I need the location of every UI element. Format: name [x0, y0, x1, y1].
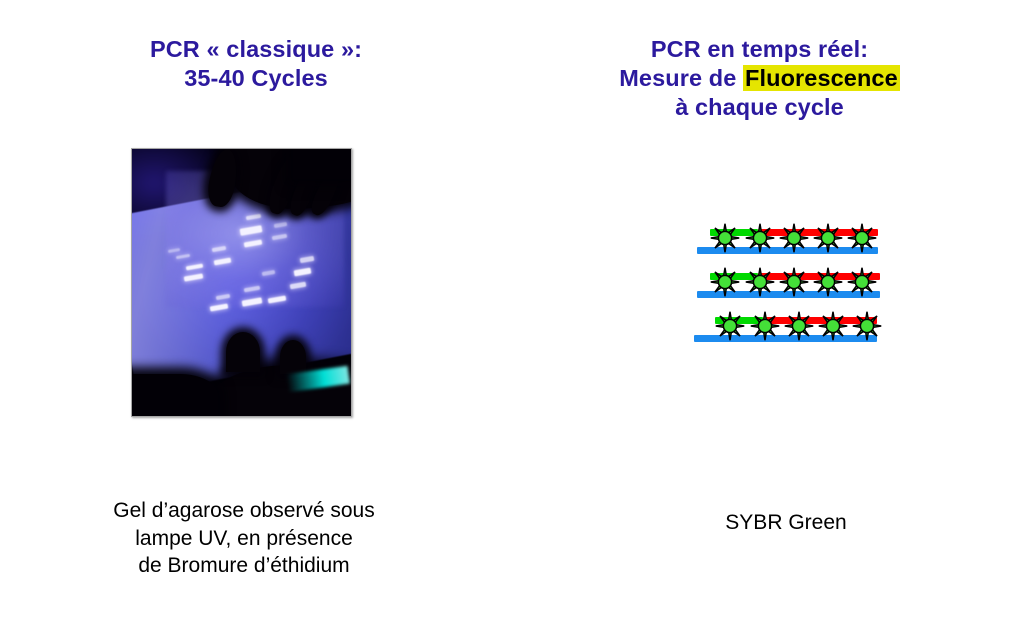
right-title-line-2-prefix: Mesure de — [619, 65, 743, 91]
dna-strand — [686, 266, 896, 306]
left-panel-title: PCR « classique »: 35-40 Cycles — [0, 35, 512, 93]
sybr-green-dye-icon — [847, 223, 877, 253]
sybr-green-dye-icon — [852, 311, 882, 341]
right-title-line-1: PCR en temps réel: — [505, 35, 1014, 64]
sybr-green-dye-icon — [813, 267, 843, 297]
sybr-green-dye-icon — [779, 223, 809, 253]
right-panel-caption: SYBR Green — [560, 509, 1012, 537]
sybr-green-dye-icon — [847, 267, 877, 297]
right-caption-line-1: SYBR Green — [560, 509, 1012, 537]
left-caption-line-3: de Bromure d’éthidium — [22, 552, 466, 580]
dark-corner — [293, 149, 351, 179]
left-caption-line-2: lampe UV, en présence — [22, 525, 466, 553]
sybr-green-dye-icon — [745, 267, 775, 297]
sybr-green-dye-icon — [818, 311, 848, 341]
right-panel-title: PCR en temps réel: Mesure de Fluorescenc… — [505, 35, 1014, 122]
fluorescence-highlight: Fluorescence — [743, 65, 900, 91]
thumb-silhouette — [226, 332, 260, 372]
sybr-green-dye-icon — [784, 311, 814, 341]
gel-photo-canvas — [132, 149, 351, 416]
left-caption-line-1: Gel d’agarose observé sous — [22, 497, 466, 525]
sybr-green-dye-icon — [779, 267, 809, 297]
sybr-green-dye-icon — [750, 311, 780, 341]
dna-strand — [686, 222, 896, 262]
left-title-line-1: PCR « classique »: — [0, 35, 512, 64]
sybr-green-dye-icon — [710, 267, 740, 297]
agarose-gel-uv-photo — [131, 148, 352, 417]
sybr-green-dna-binding-diagram — [686, 214, 896, 354]
dna-strand — [686, 310, 896, 350]
sybr-green-dye-icon — [813, 223, 843, 253]
dark-corner — [132, 374, 218, 416]
right-title-line-3: à chaque cycle — [505, 93, 1014, 122]
sybr-green-dye-icon — [745, 223, 775, 253]
right-title-line-2: Mesure de Fluorescence — [505, 64, 1014, 93]
finger-silhouette — [280, 340, 306, 374]
sybr-green-dye-icon — [710, 223, 740, 253]
sybr-green-dye-icon — [715, 311, 745, 341]
left-title-line-2: 35-40 Cycles — [0, 64, 512, 93]
left-panel-caption: Gel d’agarose observé sous lampe UV, en … — [22, 497, 466, 580]
